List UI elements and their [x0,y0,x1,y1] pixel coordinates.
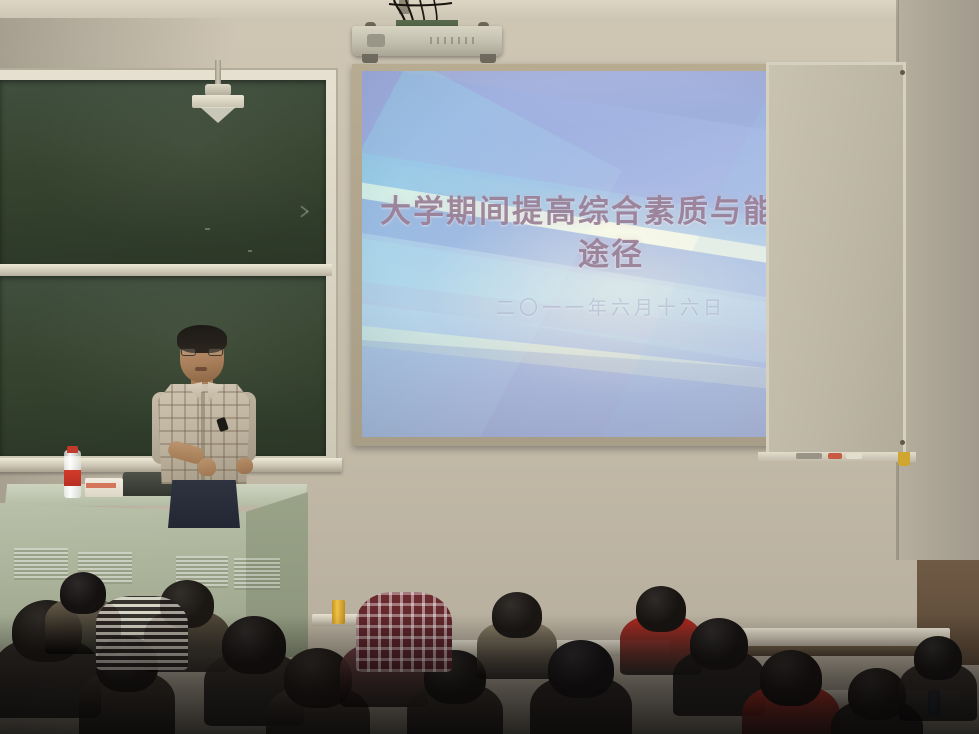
student-head [848,668,906,720]
projector-vent [430,37,476,44]
chalk-mark [300,210,308,217]
water-bottle-cap [67,446,78,453]
ceiling-strip [0,0,979,18]
presenter-mouth [195,367,207,371]
marker [796,453,822,459]
blackboard-divider [0,264,332,276]
blackboard-panel-top [0,80,326,266]
whiteboard [766,62,906,457]
presenter-hand-right [236,458,253,474]
student-head [636,586,686,632]
podium-vent [14,548,68,580]
drink-can [332,600,345,624]
tissue-box-stripe [86,483,116,488]
lecture-hall-photo: 大学期间提高综合素质与能力的 途径 二〇一一年六月十六日 [0,0,979,734]
student-head [222,616,286,674]
marker [828,453,842,459]
student-head [690,618,748,670]
presenter-hand-left [198,458,216,476]
wall-right-panel [898,0,979,560]
chalk-mark [205,228,210,230]
student-head [492,592,542,638]
projector-lens [367,34,385,47]
student-striped-shirt [96,596,188,670]
whiteboard-screw [900,70,905,75]
presenter [150,322,260,522]
water-bottle-label [64,470,81,486]
student-plaid-shirt [356,592,452,672]
student-head [914,636,962,680]
glasses-icon [181,348,223,356]
podium-vent [234,558,280,590]
student-head [548,640,614,698]
projector-foot-right [480,54,496,63]
lamp-cone [200,107,236,123]
marker [846,453,862,459]
tray-end-cap [898,452,910,466]
whiteboard-screw [900,440,905,445]
student-head [60,572,106,614]
projector-foot-left [362,54,378,63]
chalk-mark [248,250,252,252]
presenter-trousers [168,480,240,528]
student-head [760,650,822,706]
